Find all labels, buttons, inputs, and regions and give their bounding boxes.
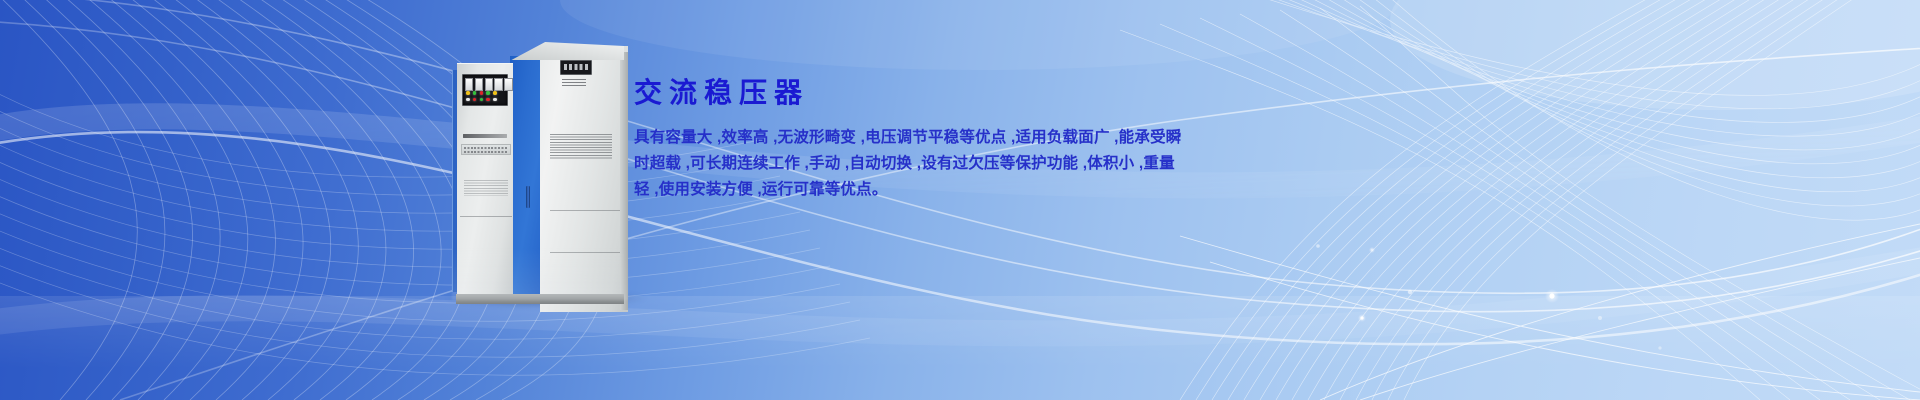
cabinet-brand-plate	[560, 60, 592, 75]
indicator-led	[480, 91, 484, 95]
panel-seam	[550, 210, 620, 211]
cabinet-spec-plate	[461, 144, 511, 155]
banner-description-line-3: 轻 ,使用安装方便 ,运行可靠等优点。	[634, 177, 1194, 203]
cabinet-model-plate	[463, 134, 507, 138]
led-row	[466, 91, 497, 95]
control-panel	[462, 74, 508, 106]
indicator-led	[473, 98, 477, 102]
meter-gauge	[475, 78, 483, 91]
panel-meters	[465, 78, 513, 91]
indicator-led	[480, 98, 484, 102]
panel-seam	[460, 216, 512, 217]
banner-copy: 交流稳压器 具有容量大 ,效率高 ,无波形畸变 ,电压调节平稳等优点 ,适用负载…	[634, 78, 1194, 203]
banner-title: 交流稳压器	[634, 78, 1194, 109]
meter-gauge	[465, 78, 473, 91]
cabinet-side-text	[562, 79, 586, 87]
cabinet-top-face	[508, 42, 624, 60]
led-row	[466, 98, 497, 102]
meter-gauge	[494, 78, 502, 91]
banner-description-line-1: 具有容量大 ,效率高 ,无波形畸变 ,电压调节平稳等优点 ,适用负载面广 ,能承…	[634, 125, 1194, 151]
ventilation-grille	[464, 180, 508, 196]
indicator-led	[493, 91, 497, 95]
ventilation-grille	[550, 134, 612, 160]
meter-gauge	[504, 78, 512, 91]
promo-banner: 交流稳压器 具有容量大 ,效率高 ,无波形畸变 ,电压调节平稳等优点 ,适用负载…	[0, 0, 1920, 400]
indicator-led	[466, 91, 470, 95]
door-handle	[526, 186, 530, 208]
indicator-led	[473, 91, 477, 95]
indicator-led	[493, 98, 497, 102]
machine-floor-reflection	[452, 238, 628, 300]
indicator-led	[486, 98, 490, 102]
indicator-led	[486, 91, 490, 95]
indicator-led	[466, 98, 470, 102]
meter-gauge	[485, 78, 493, 91]
panel-indicator-lights	[466, 91, 497, 101]
banner-description-line-2: 时超载 ,可长期连续工作 ,手动 ,自动切换 ,设有过欠压等保护功能 ,体积小 …	[634, 151, 1194, 177]
